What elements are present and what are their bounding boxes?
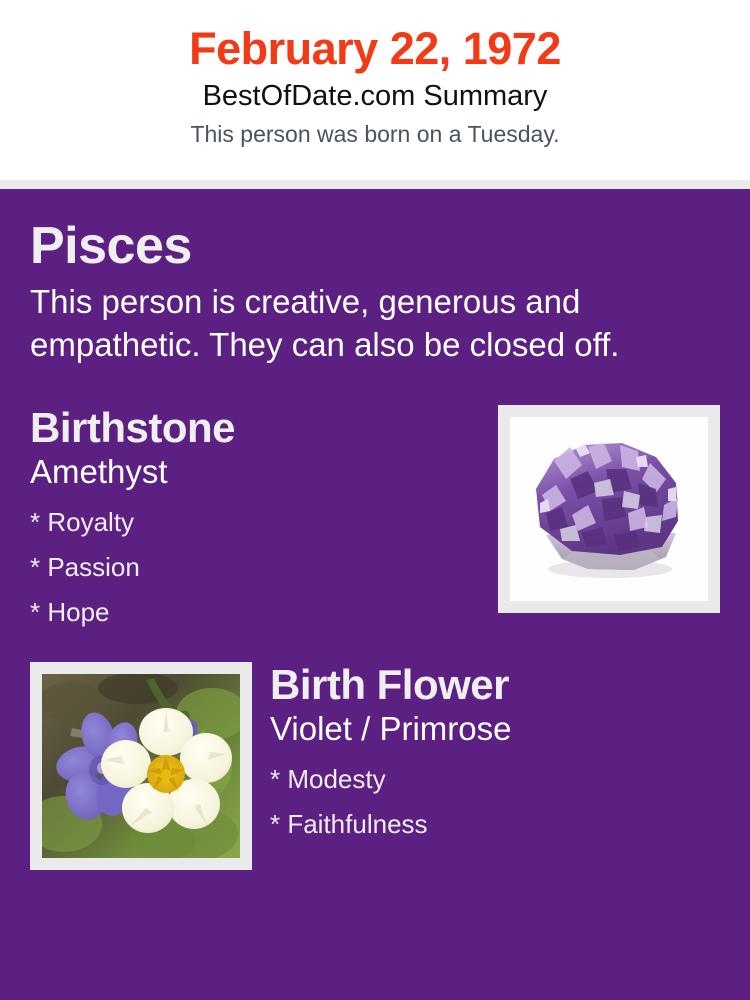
zodiac-sign-name: Pisces — [30, 217, 720, 275]
birthstone-trait-list: * Royalty * Passion * Hope — [30, 500, 488, 634]
list-item: * Hope — [30, 590, 488, 635]
list-item: * Faithfulness — [270, 802, 720, 847]
birth-flower-trait-list: * Modesty * Faithfulness — [270, 757, 720, 846]
born-day-text: This person was born on a Tuesday. — [0, 118, 750, 150]
amethyst-crystal-photo — [510, 417, 708, 601]
birthstone-name: Amethyst — [30, 453, 488, 492]
birth-flower-text-column: Birth Flower Violet / Primrose * Modesty… — [252, 662, 720, 847]
birth-flower-heading: Birth Flower — [270, 662, 720, 708]
content-panel: Pisces This person is creative, generous… — [0, 189, 750, 1000]
summary-card: February 22, 1972 BestOfDate.com Summary… — [0, 0, 750, 1000]
birthstone-text-column: Birthstone Amethyst * Royalty * Passion … — [30, 405, 498, 634]
birthstone-heading: Birthstone — [30, 405, 488, 451]
zodiac-description: This person is creative, generous and em… — [30, 281, 710, 367]
list-item: * Passion — [30, 545, 488, 590]
birth-flower-name: Violet / Primrose — [270, 710, 720, 749]
list-item: * Royalty — [30, 500, 488, 545]
birth-flower-section: Birth Flower Violet / Primrose * Modesty… — [30, 662, 720, 870]
site-subtitle: BestOfDate.com Summary — [0, 77, 750, 116]
list-item: * Modesty — [270, 757, 720, 802]
violet-primrose-photo — [42, 674, 240, 858]
birthstone-image-frame — [498, 405, 720, 613]
birthstone-section: Birthstone Amethyst * Royalty * Passion … — [30, 405, 720, 634]
header: February 22, 1972 BestOfDate.com Summary… — [0, 0, 750, 180]
birth-flower-image-frame — [30, 662, 252, 870]
zodiac-section: Pisces This person is creative, generous… — [30, 189, 720, 367]
header-divider — [0, 180, 750, 189]
page-title: February 22, 1972 — [0, 24, 750, 74]
